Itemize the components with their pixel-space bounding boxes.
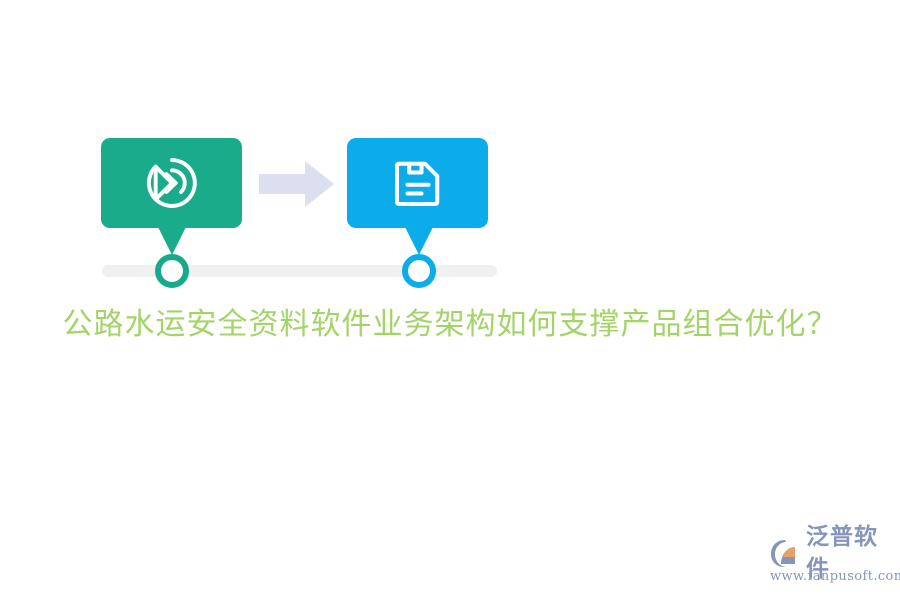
page-canvas: 公路水运安全资料软件业务架构如何支撑产品组合优化？ 泛普软件 www.fanpu… [0, 0, 900, 600]
fanpu-logo-icon [770, 537, 804, 569]
step-pointer-1 [158, 227, 186, 255]
document-file-icon [390, 155, 446, 211]
timeline-node-1[interactable] [155, 254, 189, 288]
step-pointer-2 [405, 227, 433, 255]
right-arrow-icon [259, 161, 334, 207]
timeline-node-2[interactable] [402, 254, 436, 288]
brand-url: www.fanpusoft.com [770, 569, 890, 584]
target-share-icon [142, 153, 202, 213]
brand-watermark-row: 泛普软件 [770, 536, 890, 570]
step-card-1[interactable] [101, 138, 242, 228]
page-title: 公路水运安全资料软件业务架构如何支撑产品组合优化？ [0, 300, 900, 350]
step-card-2[interactable] [347, 138, 488, 228]
roadmap-graphic [0, 0, 900, 300]
brand-watermark: 泛普软件 www.fanpusoft.com [770, 536, 890, 592]
